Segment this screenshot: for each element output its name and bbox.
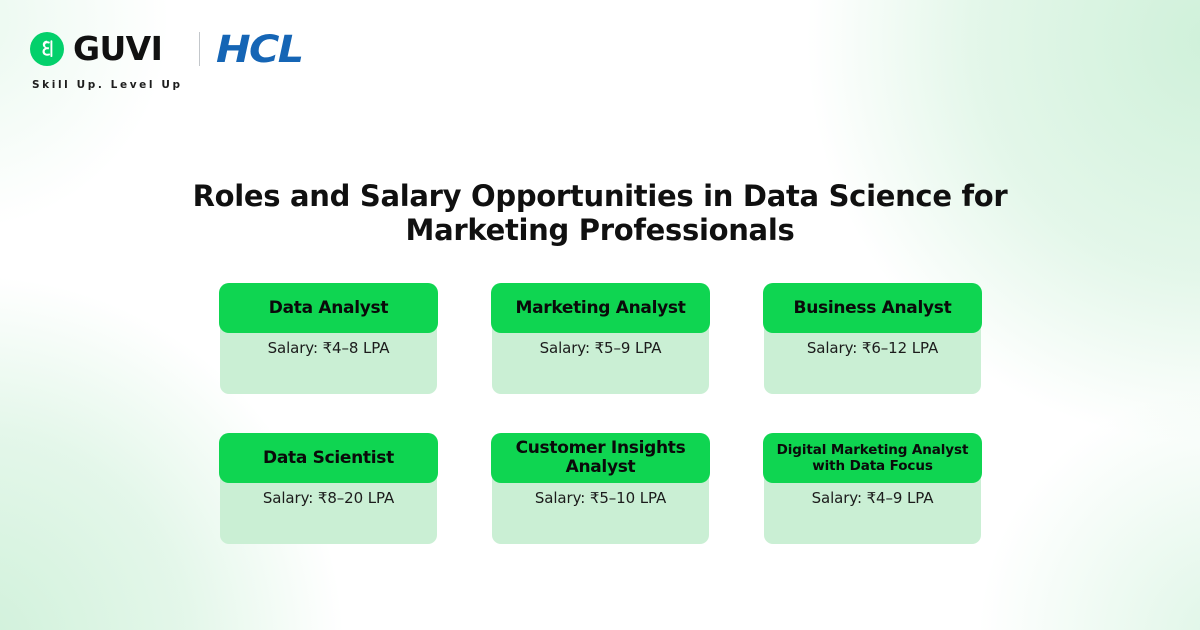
role-card-header: Business Analyst — [763, 283, 982, 333]
guvi-brand-block: GUVI Skill Up. Level Up — [30, 28, 183, 91]
page-title: Roles and Salary Opportunities in Data S… — [0, 179, 1200, 247]
role-title: Marketing Analyst — [515, 299, 685, 318]
role-salary: Salary: ₹5–10 LPA — [492, 489, 709, 507]
infographic-canvas: GUVI Skill Up. Level Up HCL Roles and Sa… — [0, 0, 1200, 630]
hcl-wordmark: HCL — [216, 29, 302, 71]
brand-lockup: GUVI Skill Up. Level Up HCL — [30, 28, 293, 91]
role-card-header: Data Scientist — [219, 433, 438, 483]
role-title: Data Analyst — [269, 299, 388, 318]
role-salary: Salary: ₹5–9 LPA — [492, 339, 709, 357]
role-card: Salary: ₹6–12 LPA Business Analyst — [764, 283, 981, 394]
guvi-tagline: Skill Up. Level Up — [32, 79, 183, 91]
guvi-logo-row: GUVI — [30, 28, 162, 70]
brand-divider — [199, 32, 200, 66]
role-card: Salary: ₹5–10 LPA Customer Insights Anal… — [492, 433, 709, 544]
role-card-grid: Salary: ₹4–8 LPA Data Analyst Salary: ₹5… — [220, 283, 982, 544]
role-card-header: Data Analyst — [219, 283, 438, 333]
role-card: Salary: ₹4–9 LPA Digital Marketing Analy… — [764, 433, 981, 544]
role-card-header: Digital Marketing Analyst with Data Focu… — [763, 433, 982, 483]
role-salary: Salary: ₹4–9 LPA — [764, 489, 981, 507]
role-title: Customer Insights Analyst — [499, 439, 702, 477]
role-card: Salary: ₹5–9 LPA Marketing Analyst — [492, 283, 709, 394]
role-salary: Salary: ₹6–12 LPA — [764, 339, 981, 357]
guvi-logo-mark — [30, 32, 64, 66]
role-title: Data Scientist — [263, 449, 394, 468]
role-salary: Salary: ₹8–20 LPA — [220, 489, 437, 507]
role-title: Digital Marketing Analyst with Data Focu… — [771, 442, 974, 474]
role-card: Salary: ₹8–20 LPA Data Scientist — [220, 433, 437, 544]
role-card-header: Marketing Analyst — [491, 283, 710, 333]
guvi-wordmark: GUVI — [73, 32, 162, 66]
role-title: Business Analyst — [794, 299, 952, 318]
role-salary: Salary: ₹4–8 LPA — [220, 339, 437, 357]
role-card-header: Customer Insights Analyst — [491, 433, 710, 483]
role-card: Salary: ₹4–8 LPA Data Analyst — [220, 283, 437, 394]
